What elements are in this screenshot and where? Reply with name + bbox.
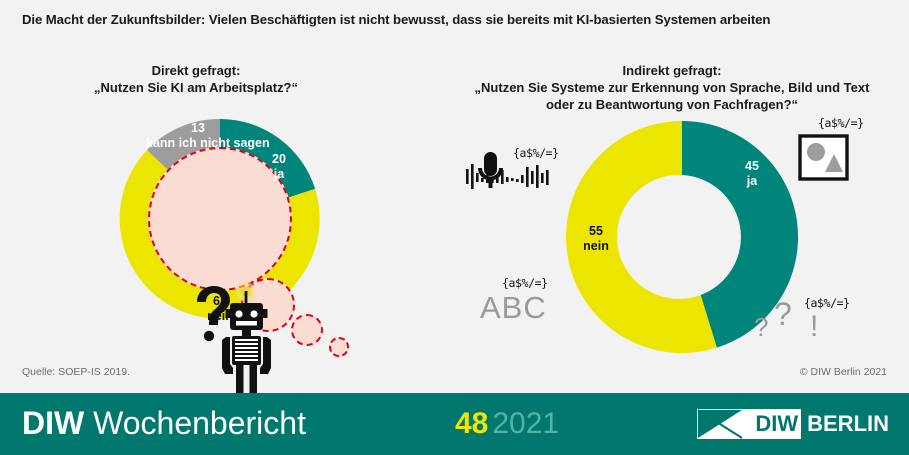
diw-cross-mark-icon — [697, 409, 743, 439]
expert-question-tag: {a$%/=} — [804, 296, 850, 310]
speech-recognition-tag: {a$%/=} — [513, 146, 559, 160]
image-recognition-tag: {a$%/=} — [818, 116, 864, 130]
right-chart-title: Indirekt gefragt: „Nutzen Sie Systeme zu… — [442, 62, 902, 113]
source-note: Quelle: SOEP-IS 2019. — [22, 366, 130, 378]
question-mark-small-icon: ? — [754, 312, 768, 343]
question-mark-large-icon: ? — [774, 296, 792, 333]
page-title: Die Macht der Zukunftsbilder: Vielen Bes… — [22, 12, 889, 27]
robot-mouth — [236, 321, 257, 326]
left-chart-panel: Direkt gefragt: „Nutzen Sie KI am Arbeit… — [18, 62, 438, 96]
logo-diw-text: DIW — [755, 413, 801, 435]
diw-berlin-logo[interactable]: DIW BERLIN — [697, 407, 889, 441]
right-chart-title-line1: Indirekt gefragt: — [442, 62, 902, 79]
footer-bar: DIW Wochenbericht 482021 DIW BERLIN — [0, 393, 909, 455]
right-chart-title-line2: „Nutzen Sie Systeme zur Erkennung von Sp… — [442, 79, 902, 96]
left-chart-title-line1: Direkt gefragt: — [46, 62, 346, 79]
diw-logo-box: DIW — [697, 409, 801, 439]
image-frame-icon — [798, 134, 854, 190]
question-mark-icon — [197, 286, 230, 341]
speech-recognition-icon-group: {a$%/=} — [466, 148, 556, 205]
left-donut-chart: 20 ja 67 nein 13 kann ich nicht sagen — [18, 114, 438, 364]
right-chart-title-line3: oder zu Beantwortung von Fachfragen?“ — [442, 96, 902, 113]
footer-issue-year: 2021 — [492, 407, 559, 440]
robot-thought-illustration — [189, 282, 289, 407]
footer-brand: DIW Wochenbericht — [22, 405, 306, 442]
left-chart-title: Direkt gefragt: „Nutzen Sie KI am Arbeit… — [46, 62, 346, 96]
footer-issue: 482021 — [455, 407, 559, 441]
footer-brand-wochenbericht: Wochenbericht — [93, 405, 306, 441]
robot-eye-left — [235, 310, 242, 317]
robot-icon — [189, 282, 289, 407]
thought-bubble-large — [148, 147, 292, 291]
logo-berlin-text: BERLIN — [807, 413, 889, 435]
right-donut-chart: 45 ja 55 nein — [442, 114, 902, 364]
footer-brand-diw: DIW — [22, 405, 84, 441]
right-chart-panel: Indirekt gefragt: „Nutzen Sie Systeme zu… — [442, 62, 902, 113]
thought-bubble-tiny — [329, 337, 349, 357]
robot-eye-right — [250, 310, 257, 317]
waveform-bars — [466, 164, 549, 189]
abc-text-icon: ABC — [480, 290, 547, 326]
left-chart-title-line2: „Nutzen Sie KI am Arbeitsplatz?“ — [46, 79, 346, 96]
exclamation-mark-icon: ! — [810, 310, 818, 344]
copyright-note: © DIW Berlin 2021 — [800, 366, 887, 378]
infographic-page: Die Macht der Zukunftsbilder: Vielen Bes… — [0, 0, 909, 455]
footer-issue-number: 48 — [455, 407, 488, 440]
thought-bubble-small — [291, 314, 323, 346]
text-recognition-tag: {a$%/=} — [502, 276, 548, 290]
